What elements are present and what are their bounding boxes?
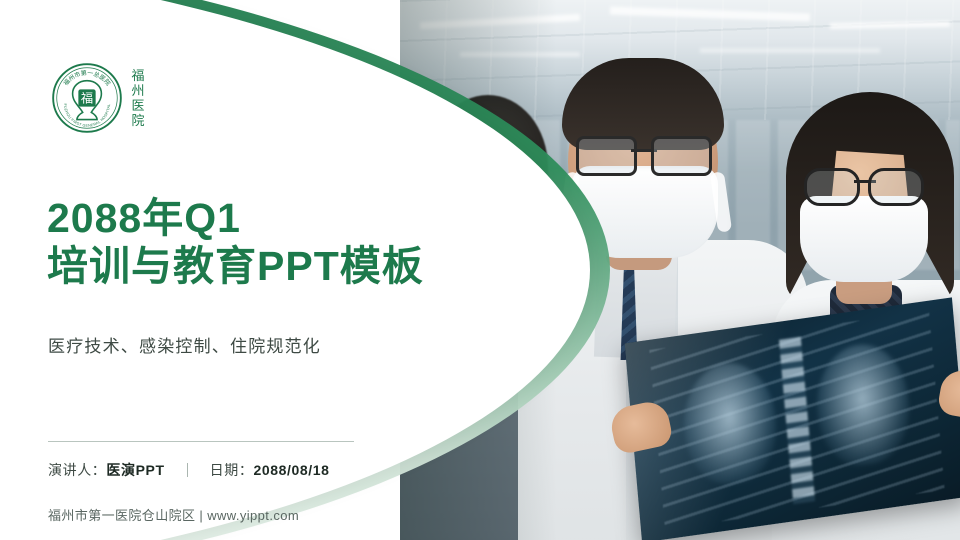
svg-text:福: 福 bbox=[131, 69, 144, 84]
slide-footer: 福州市第一医院仓山院区 | www.yippt.com bbox=[48, 505, 299, 524]
speaker-name: 医演PPT bbox=[106, 460, 164, 480]
svg-text:福州市第一总医院: 福州市第一总医院 bbox=[62, 69, 112, 87]
svg-text:FUZHOU FIRST GENERAL HOSPITAL: FUZHOU FIRST GENERAL HOSPITAL bbox=[63, 103, 111, 127]
meta-separator bbox=[187, 463, 188, 477]
presenter-meta: 演讲人： 医演PPT 日期： 2088/08/18 bbox=[48, 460, 330, 480]
slide-subtitle: 医疗技术、感染控制、住院规范化 bbox=[48, 332, 321, 357]
hospital-logo-wordmark: 福 州 医 院 bbox=[123, 64, 153, 134]
slide-title-line-1: 2088年Q1 bbox=[47, 196, 517, 240]
svg-text:院: 院 bbox=[131, 114, 144, 129]
svg-text:州: 州 bbox=[131, 84, 144, 99]
date-value: 2088/08/18 bbox=[253, 462, 329, 478]
presentation-title-slide: 福 福州市第一总医院 FUZHOU FIRST GENERAL HOSPITAL… bbox=[0, 0, 960, 540]
slide-content: 福 福州市第一总医院 FUZHOU FIRST GENERAL HOSPITAL… bbox=[47, 0, 517, 540]
title-block: 2088年Q1 培训与教育PPT模板 bbox=[47, 196, 517, 289]
slide-title-line-2: 培训与教育PPT模板 bbox=[47, 244, 517, 289]
svg-text:医: 医 bbox=[131, 99, 144, 114]
hospital-emblem-icon: 福 福州市第一总医院 FUZHOU FIRST GENERAL HOSPITAL bbox=[51, 62, 123, 134]
svg-text:福: 福 bbox=[81, 90, 93, 105]
fuzhou-first-general-hospital-logo: 福 福州市第一总医院 FUZHOU FIRST GENERAL HOSPITAL… bbox=[47, 62, 151, 140]
meta-divider bbox=[48, 441, 354, 442]
speaker-label: 演讲人： bbox=[48, 460, 106, 480]
date-label: 日期： bbox=[210, 460, 254, 480]
